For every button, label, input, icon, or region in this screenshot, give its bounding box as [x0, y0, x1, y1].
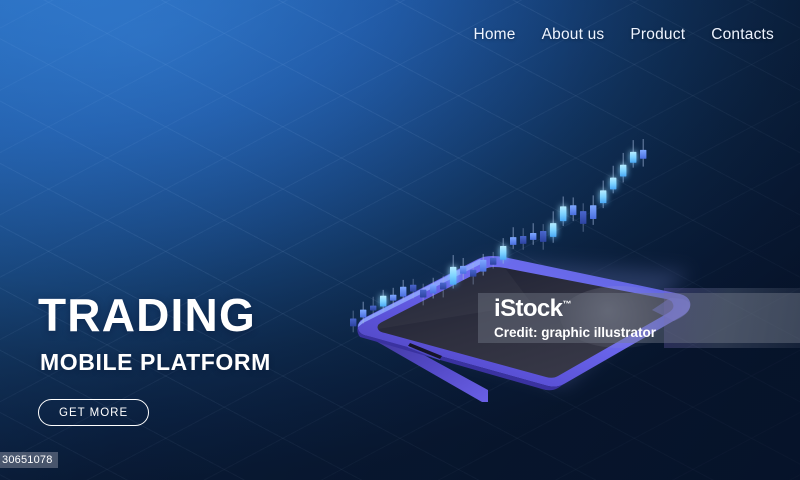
- nav-item-product[interactable]: Product: [630, 26, 685, 44]
- main-navigation: Home About us Product Contacts: [473, 26, 774, 44]
- page-subtitle: MOBILE PLATFORM: [40, 351, 271, 374]
- istock-logo-text: iStock: [494, 295, 562, 322]
- nav-item-about-us[interactable]: About us: [542, 26, 605, 44]
- asset-id-label: 30651078: [0, 452, 58, 468]
- hero-banner: Home About us Product Contacts: [0, 0, 800, 480]
- trademark-icon: ™: [562, 299, 571, 309]
- hero-copy: TRADING MOBILE PLATFORM GET MORE: [38, 292, 271, 426]
- nav-item-contacts[interactable]: Contacts: [711, 26, 774, 44]
- page-title: TRADING: [38, 292, 271, 338]
- get-more-button[interactable]: GET MORE: [38, 399, 149, 426]
- nav-item-home[interactable]: Home: [473, 26, 515, 44]
- watermark-credit: Credit: graphic illustrator: [494, 326, 656, 340]
- istock-logo: iStock™: [494, 297, 571, 321]
